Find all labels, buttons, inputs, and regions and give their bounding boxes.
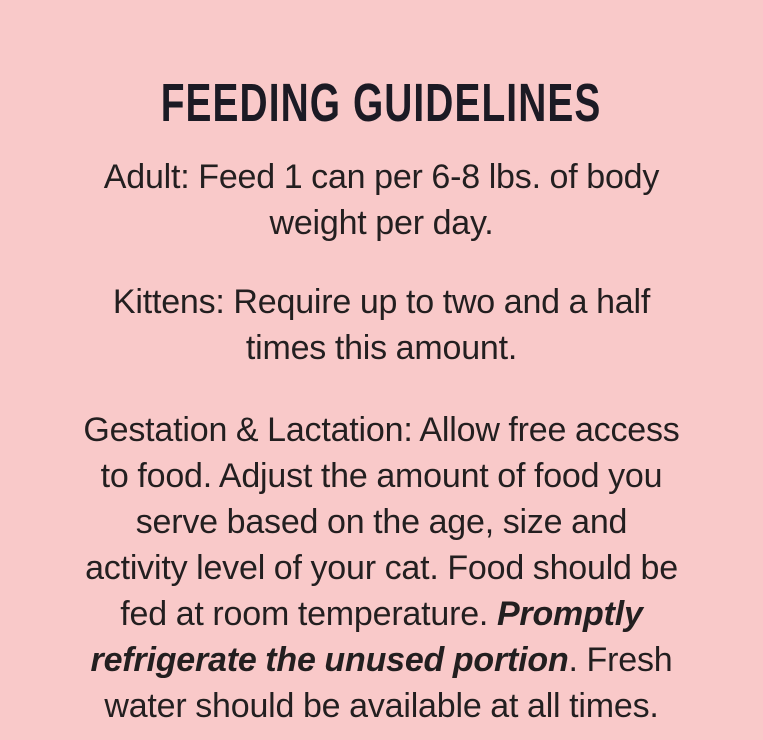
feeding-guidelines-panel: FEEDING GUIDELINES Adult: Feed 1 can per… — [0, 0, 763, 740]
kittens-feeding-text: Kittens: Require up to two and a half ti… — [82, 279, 682, 371]
adult-feeding-text: Adult: Feed 1 can per 6-8 lbs. of body w… — [82, 154, 682, 246]
gestation-lactation-text: Gestation & Lactation: Allow free access… — [82, 407, 682, 729]
page-title: FEEDING GUIDELINES — [161, 76, 602, 130]
